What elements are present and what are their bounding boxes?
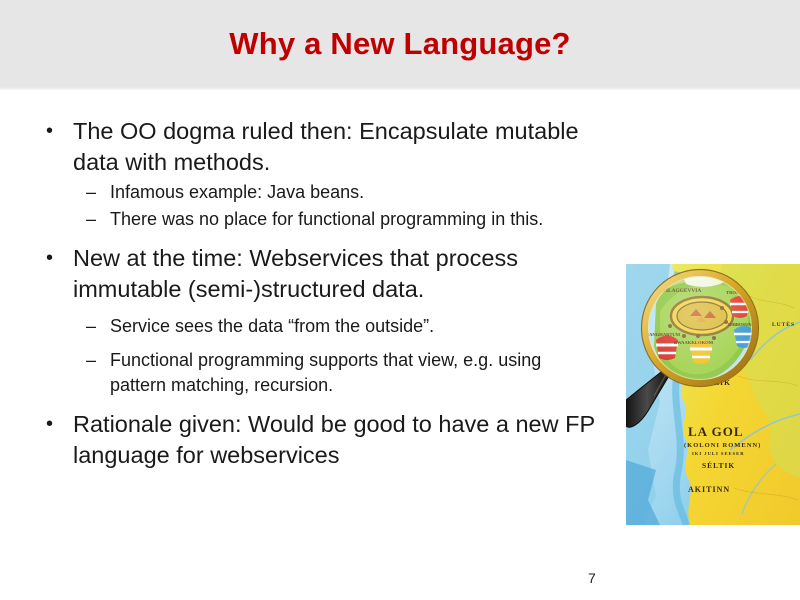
bullet-list: • The OO dogma ruled then: Encapsulate m… bbox=[38, 116, 598, 473]
bullet-dot-icon: • bbox=[46, 116, 53, 147]
list-item: • Rationale given: Would be good to have… bbox=[38, 409, 598, 471]
asterix-map-of-gaul-image: ARMORIK LA GOL (KOLONI ROMENN) IKI JULI … bbox=[626, 264, 800, 525]
list-item-text: Rationale given: Would be good to have a… bbox=[73, 411, 595, 468]
bullet-dash-icon: – bbox=[86, 207, 96, 232]
magnifier-lens-icon: VILAGGEVVIA TROMOM BIBBOSUM BANGHARTUM B… bbox=[642, 268, 759, 386]
map-label-koloni-romenn: (KOLONI ROMENN) bbox=[684, 442, 761, 449]
list-item-text: New at the time: Webservices that proces… bbox=[73, 245, 518, 302]
list-item: – Infamous example: Java beans. bbox=[38, 180, 598, 205]
list-item: – There was no place for functional prog… bbox=[38, 207, 598, 232]
list-item-text: Functional programming supports that vie… bbox=[110, 350, 541, 395]
bullet-dash-icon: – bbox=[86, 348, 96, 373]
map-label-la-gol: LA GOL bbox=[688, 424, 744, 439]
map-label-seltik: SÉLTIK bbox=[702, 460, 735, 470]
slide-body: • The OO dogma ruled then: Encapsulate m… bbox=[0, 92, 800, 600]
bullet-dot-icon: • bbox=[46, 409, 53, 440]
map-label-akitinn: AKITINN bbox=[688, 485, 730, 494]
list-item-text: The OO dogma ruled then: Encapsulate mut… bbox=[73, 118, 579, 175]
list-item: – Service sees the data “from the outsid… bbox=[38, 314, 598, 339]
map-label-iki-juli-seeser: IKI JULI SEESER bbox=[692, 451, 745, 456]
list-item: • New at the time: Webservices that proc… bbox=[38, 243, 598, 305]
list-item-text: There was no place for functional progra… bbox=[110, 209, 543, 229]
list-item-text: Infamous example: Java beans. bbox=[110, 182, 364, 202]
map-canvas: ARMORIK LA GOL (KOLONI ROMENN) IKI JULI … bbox=[626, 264, 800, 525]
bullet-dash-icon: – bbox=[86, 180, 96, 205]
slide-header-band: Why a New Language? bbox=[0, 0, 800, 90]
bullet-dash-icon: – bbox=[86, 314, 96, 339]
list-item-text: Service sees the data “from the outside”… bbox=[110, 316, 434, 336]
bullet-dot-icon: • bbox=[46, 243, 53, 274]
page-number: 7 bbox=[588, 570, 596, 586]
list-item: – Functional programming supports that v… bbox=[38, 348, 598, 398]
map-label-lutes: LUTÈS bbox=[772, 320, 795, 328]
page-title: Why a New Language? bbox=[0, 26, 800, 62]
list-item: • The OO dogma ruled then: Encapsulate m… bbox=[38, 116, 598, 178]
